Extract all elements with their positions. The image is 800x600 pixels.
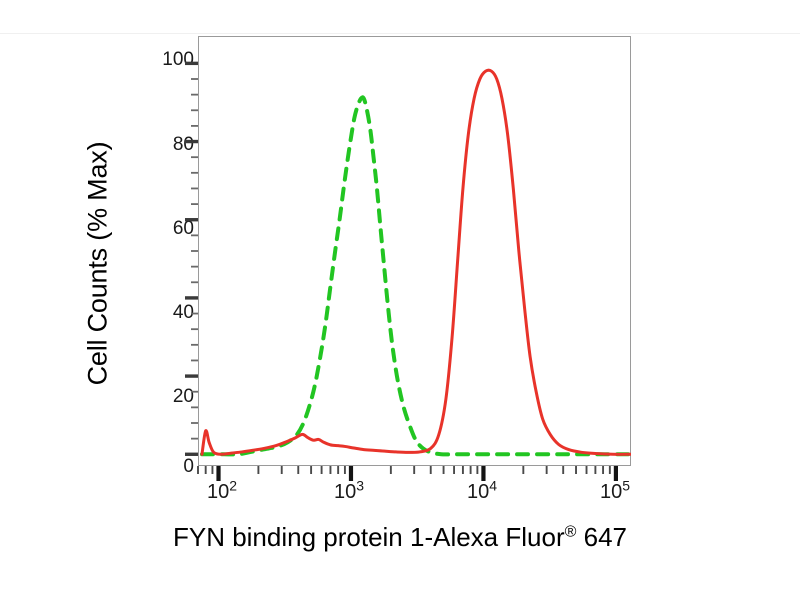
- xtick-base-1e4: 10: [467, 481, 489, 503]
- x-axis-title: FYN binding protein 1-Alexa Fluor® 647: [0, 522, 800, 553]
- registered-trademark-icon: ®: [565, 523, 577, 540]
- xtick-exp-1e4: 4: [489, 477, 497, 493]
- xtick-label-1e5: 105: [580, 481, 650, 504]
- ytick-label-0: 0: [148, 456, 194, 478]
- ytick-label-20: 20: [148, 386, 194, 408]
- xtick-exp-1e2: 2: [229, 477, 237, 493]
- xtick-label-1e2: 102: [187, 481, 257, 504]
- xtick-label-1e4: 104: [447, 481, 517, 504]
- xtick-label-1e3: 103: [314, 481, 384, 504]
- xtick-base-1e3: 10: [334, 481, 356, 503]
- ytick-label-100: 100: [148, 49, 194, 71]
- xtick-exp-1e3: 3: [356, 477, 364, 493]
- xtick-exp-1e5: 5: [622, 477, 630, 493]
- ytick-label-80: 80: [148, 134, 194, 156]
- x-axis-title-tail: 647: [576, 522, 627, 552]
- ytick-label-60: 60: [148, 218, 194, 240]
- y-axis-title: Cell Counts (% Max): [83, 104, 114, 424]
- x-axis-ticks: [198, 466, 616, 481]
- ytick-label-40: 40: [148, 302, 194, 324]
- xtick-base-1e2: 10: [207, 481, 229, 503]
- xtick-base-1e5: 10: [600, 481, 622, 503]
- flow-cytometry-figure: 100 80 60 40 20 0 102 103 104 105 Cell C…: [0, 0, 800, 600]
- plot-frame: [198, 36, 631, 466]
- top-divider-rule: [0, 33, 800, 34]
- x-axis-title-main: FYN binding protein 1-Alexa Fluor: [173, 522, 565, 552]
